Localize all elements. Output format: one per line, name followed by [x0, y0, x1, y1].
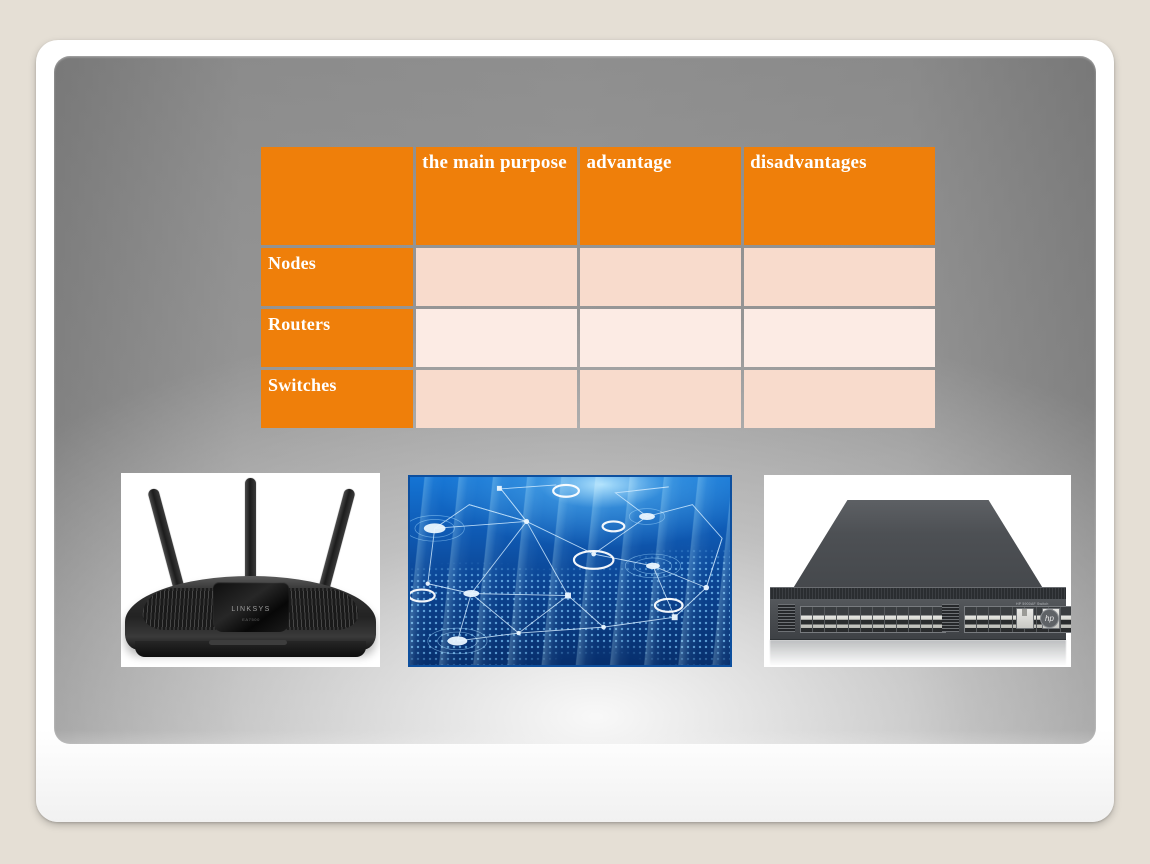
switch-illustration: HP 5900AF Switch hp [764, 475, 1071, 667]
column-header-advantage: advantage [580, 147, 741, 245]
slide-content-panel: the main purpose advantage disadvantages… [54, 56, 1096, 744]
network-illustration [410, 477, 730, 665]
table-corner-cell [261, 147, 413, 245]
table-header-row: the main purpose advantage disadvantages [261, 147, 935, 245]
table-row-switches: Switches [261, 370, 935, 428]
cell-switches-purpose[interactable] [416, 370, 577, 428]
router-gloss-panel: LINKSYS EA7500 [213, 582, 289, 632]
comparison-table: the main purpose advantage disadvantages… [258, 144, 938, 431]
switch-front-panel: HP 5900AF Switch hp [770, 599, 1066, 640]
switch-sfp-bank-left[interactable] [800, 606, 946, 633]
switch-top-cover [792, 500, 1044, 590]
wireless-router-photo: LINKSYS EA7500 [121, 473, 380, 667]
router-brand-label: LINKSYS [213, 606, 289, 613]
switch-rj45-port-1[interactable] [1016, 608, 1034, 629]
row-label-nodes: Nodes [261, 248, 413, 306]
cell-nodes-disadvantages[interactable] [744, 248, 935, 306]
slide-root: the main purpose advantage disadvantages… [0, 0, 1150, 864]
slide-card: the main purpose advantage disadvantages… [36, 40, 1114, 822]
column-header-disadvantages: disadvantages [744, 147, 935, 245]
switch-mid-vent [942, 604, 959, 632]
router-vent-left [142, 588, 223, 630]
network-light-rays [410, 477, 730, 665]
cell-nodes-advantage[interactable] [580, 248, 741, 306]
cell-routers-disadvantages[interactable] [744, 309, 935, 367]
switch-model-label: HP 5900AF Switch [1016, 602, 1049, 606]
table-row-nodes: Nodes [261, 248, 935, 306]
cell-routers-purpose[interactable] [416, 309, 577, 367]
table-head: the main purpose advantage disadvantages [261, 147, 935, 245]
switch-brand-logo: hp [1040, 609, 1059, 628]
table-row-routers: Routers [261, 309, 935, 367]
table-body: Nodes Routers Switches [261, 248, 935, 428]
router-illustration: LINKSYS EA7500 [121, 473, 380, 667]
cell-switches-disadvantages[interactable] [744, 370, 935, 428]
row-label-switches: Switches [261, 370, 413, 428]
router-model-label: EA7500 [213, 617, 289, 622]
cell-routers-advantage[interactable] [580, 309, 741, 367]
router-chassis: LINKSYS EA7500 [125, 576, 376, 650]
network-switch-photo: HP 5900AF Switch hp [764, 475, 1071, 667]
comparison-table-wrapper: the main purpose advantage disadvantages… [258, 144, 938, 431]
cell-switches-advantage[interactable] [580, 370, 741, 428]
column-header-the-main-purpose: the main purpose [416, 147, 577, 245]
row-label-routers: Routers [261, 309, 413, 367]
switch-reflection [770, 640, 1066, 666]
switch-side-vent-left [778, 604, 795, 632]
cell-nodes-purpose[interactable] [416, 248, 577, 306]
router-front-slot [209, 640, 287, 645]
router-vent-right [279, 588, 360, 630]
network-mesh-photo [408, 475, 732, 667]
